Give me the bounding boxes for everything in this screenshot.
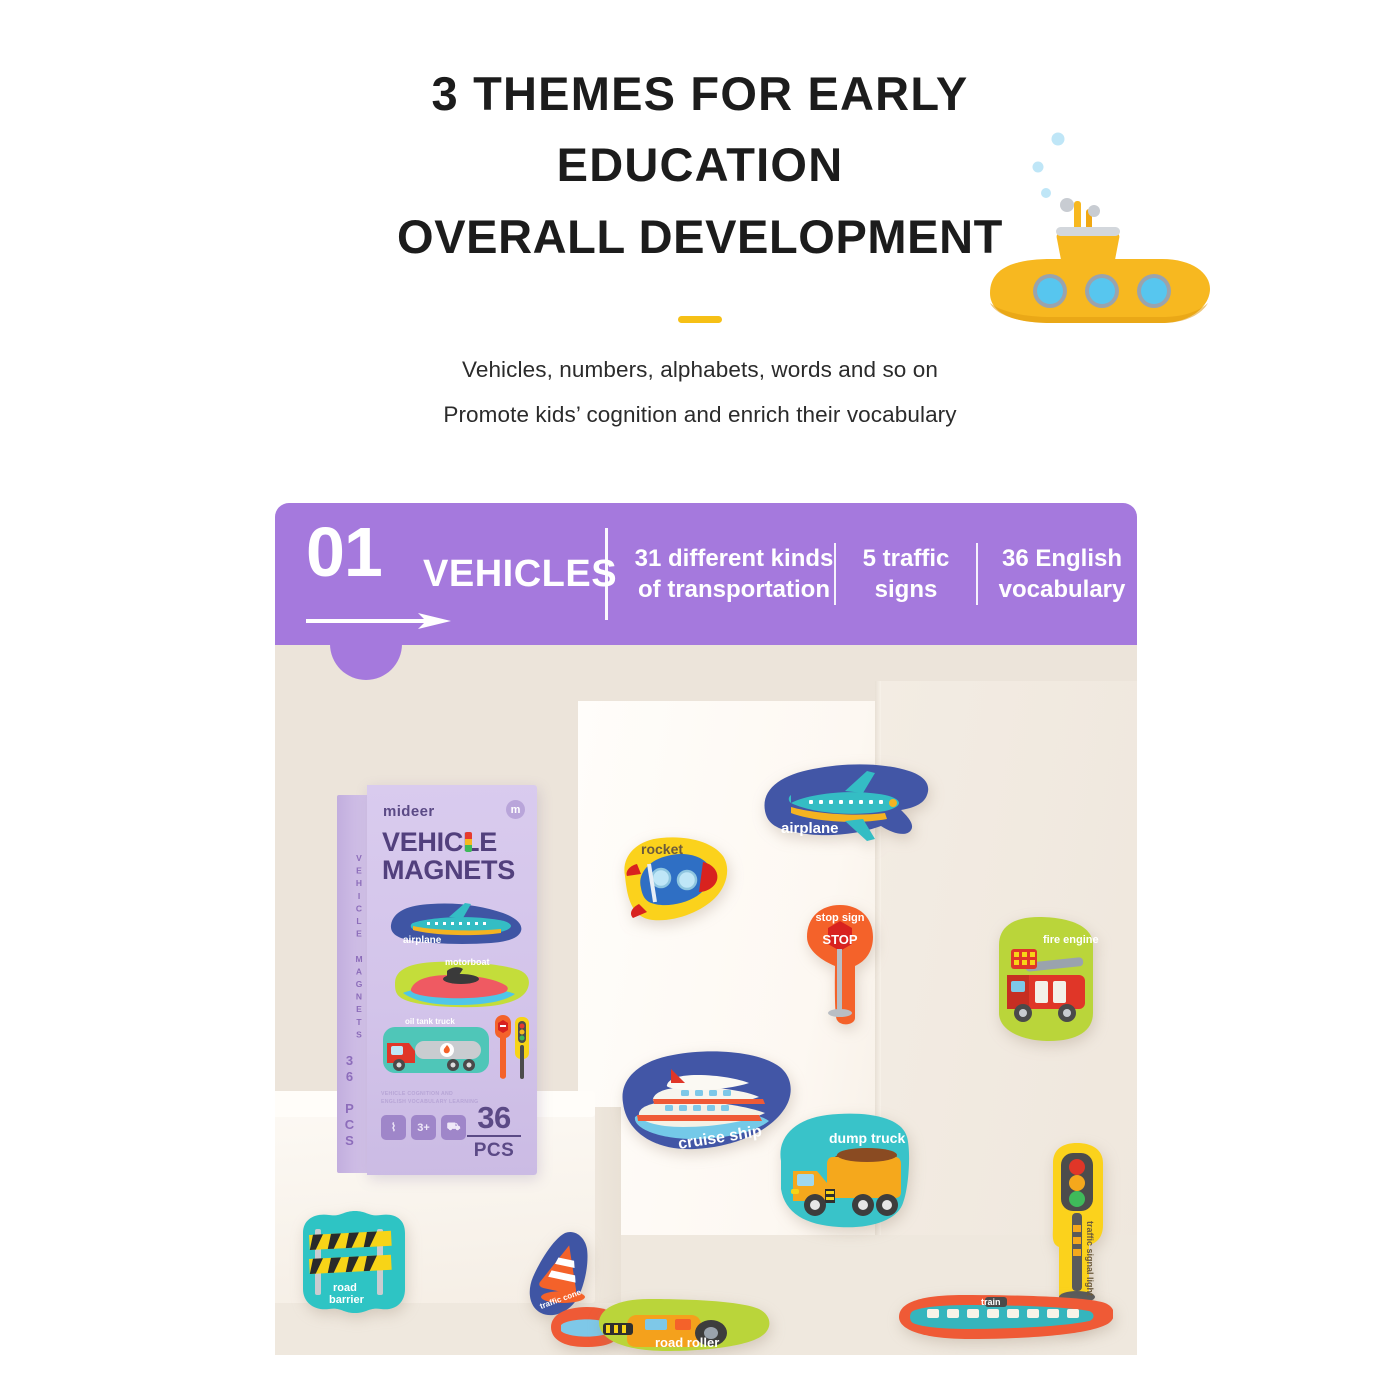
box-art-label-oil-tank-truck: oil tank truck bbox=[405, 1017, 455, 1026]
box-front-face: mideer m VEHICLE MAGNETS bbox=[367, 785, 537, 1175]
banner-category: VEHICLES bbox=[423, 555, 617, 593]
divider-rule bbox=[678, 316, 722, 323]
magnet-rocket: rocket bbox=[611, 830, 737, 936]
magnet-label-fire-engine: fire engine bbox=[1043, 934, 1099, 946]
arrow-right-icon bbox=[306, 613, 451, 629]
magnet-airplane: airplane bbox=[753, 755, 931, 855]
box-art-oil-tank-truck: oil tank truck bbox=[381, 1013, 491, 1083]
magnet-label-traffic-signal-light: traffic signal light bbox=[1085, 1221, 1095, 1296]
banner-feature-2: 5 traffic signs bbox=[836, 543, 976, 605]
box-spine: VEHICLE MAGNETS 36 PCS bbox=[337, 795, 367, 1173]
box-art-label-airplane: airplane bbox=[403, 935, 442, 946]
magnet-cruise-ship: cruise ship bbox=[609, 1045, 791, 1167]
box-title-line-2: MAGNETS bbox=[382, 857, 526, 885]
theme-banner: 01 VEHICLES 31 different kinds of transp… bbox=[275, 503, 1137, 645]
magnet-dump-truck: dump truck bbox=[771, 1105, 917, 1233]
box-art-airplane: airplane bbox=[383, 895, 525, 953]
box-title-line-1: VEHICLE bbox=[382, 827, 497, 857]
product-box: VEHICLE MAGNETS 36 PCS mideer m VEHICLE … bbox=[337, 785, 537, 1175]
magnet-label-dump-truck: dump truck bbox=[829, 1130, 905, 1146]
banner-divider-3 bbox=[976, 543, 978, 605]
box-art-label-motorboat: motorboat bbox=[445, 957, 490, 967]
magnet-badge-icon: ⌇ bbox=[381, 1115, 406, 1140]
box-art-traffic-signs bbox=[491, 1015, 531, 1083]
box-art-motorboat: motorboat bbox=[389, 953, 529, 1015]
box-spine-count: 36 PCS bbox=[342, 1053, 357, 1149]
headline-line-2: EDUCATION bbox=[170, 129, 1230, 200]
magnet-label-stop-sign: stop sign bbox=[816, 912, 865, 924]
headline-line-1: 3 THEMES FOR EARLY bbox=[170, 58, 1230, 129]
box-spine-title: VEHICLE MAGNETS bbox=[341, 853, 363, 1042]
magnet-road-roller: road roller bbox=[593, 1297, 779, 1355]
subtitle-line-1: Vehicles, numbers, alphabets, words and … bbox=[170, 357, 1230, 383]
magnet-label-road-barrier-2: barrier bbox=[329, 1294, 365, 1306]
magnet-label-road-barrier: road bbox=[333, 1282, 357, 1294]
box-title: VEHICLE MAGNETS bbox=[382, 829, 526, 884]
magnet-label-airplane: airplane bbox=[781, 820, 839, 837]
product-photo: VEHICLE MAGNETS 36 PCS mideer m VEHICLE … bbox=[275, 645, 1137, 1355]
banner-feature-1: 31 different kinds of transportation bbox=[634, 543, 834, 605]
magnet-label-rocket: rocket bbox=[641, 841, 683, 857]
svg-text:STOP: STOP bbox=[822, 932, 857, 947]
box-piece-count: 36 PCS bbox=[463, 1103, 525, 1162]
box-count-unit: PCS bbox=[463, 1140, 525, 1162]
box-badge-row: ⌇ 3+ ⛟ bbox=[381, 1115, 466, 1140]
subtitle-line-2: Promote kids’ cognition and enrich their… bbox=[170, 402, 1230, 428]
brand-logo: mideer bbox=[383, 803, 435, 820]
banner-number-block: 01 VEHICLES bbox=[275, 503, 605, 645]
magnet-stop-sign: STOP stop sign bbox=[799, 903, 881, 1031]
magnet-label-train: train bbox=[981, 1297, 1001, 1307]
hero-section: 3 THEMES FOR EARLY EDUCATION OVERALL DEV… bbox=[0, 0, 1400, 470]
page-title: 3 THEMES FOR EARLY EDUCATION OVERALL DEV… bbox=[170, 58, 1230, 272]
banner-number: 01 bbox=[306, 517, 382, 587]
magnet-road-barrier: road barrier bbox=[295, 1207, 407, 1319]
banner-divider-2 bbox=[834, 543, 836, 605]
magnet-fire-engine: fire engine bbox=[991, 913, 1101, 1045]
age-badge: 3+ bbox=[411, 1115, 436, 1140]
box-count-rule bbox=[467, 1135, 521, 1137]
banner-divider-1 bbox=[605, 528, 608, 620]
traffic-light-accent-icon bbox=[465, 832, 472, 852]
brand-mark-icon: m bbox=[506, 800, 525, 819]
banner-feature-3: 36 English vocabulary bbox=[978, 543, 1146, 605]
headline-line-3: OVERALL DEVELOPMENT bbox=[170, 201, 1230, 272]
magnet-train: train bbox=[893, 1293, 1113, 1349]
box-count-number: 36 bbox=[463, 1103, 525, 1132]
box-fineprint-line-1: VEHICLE COGNITION AND bbox=[381, 1091, 491, 1099]
magnet-label-road-roller: road roller bbox=[655, 1335, 719, 1350]
